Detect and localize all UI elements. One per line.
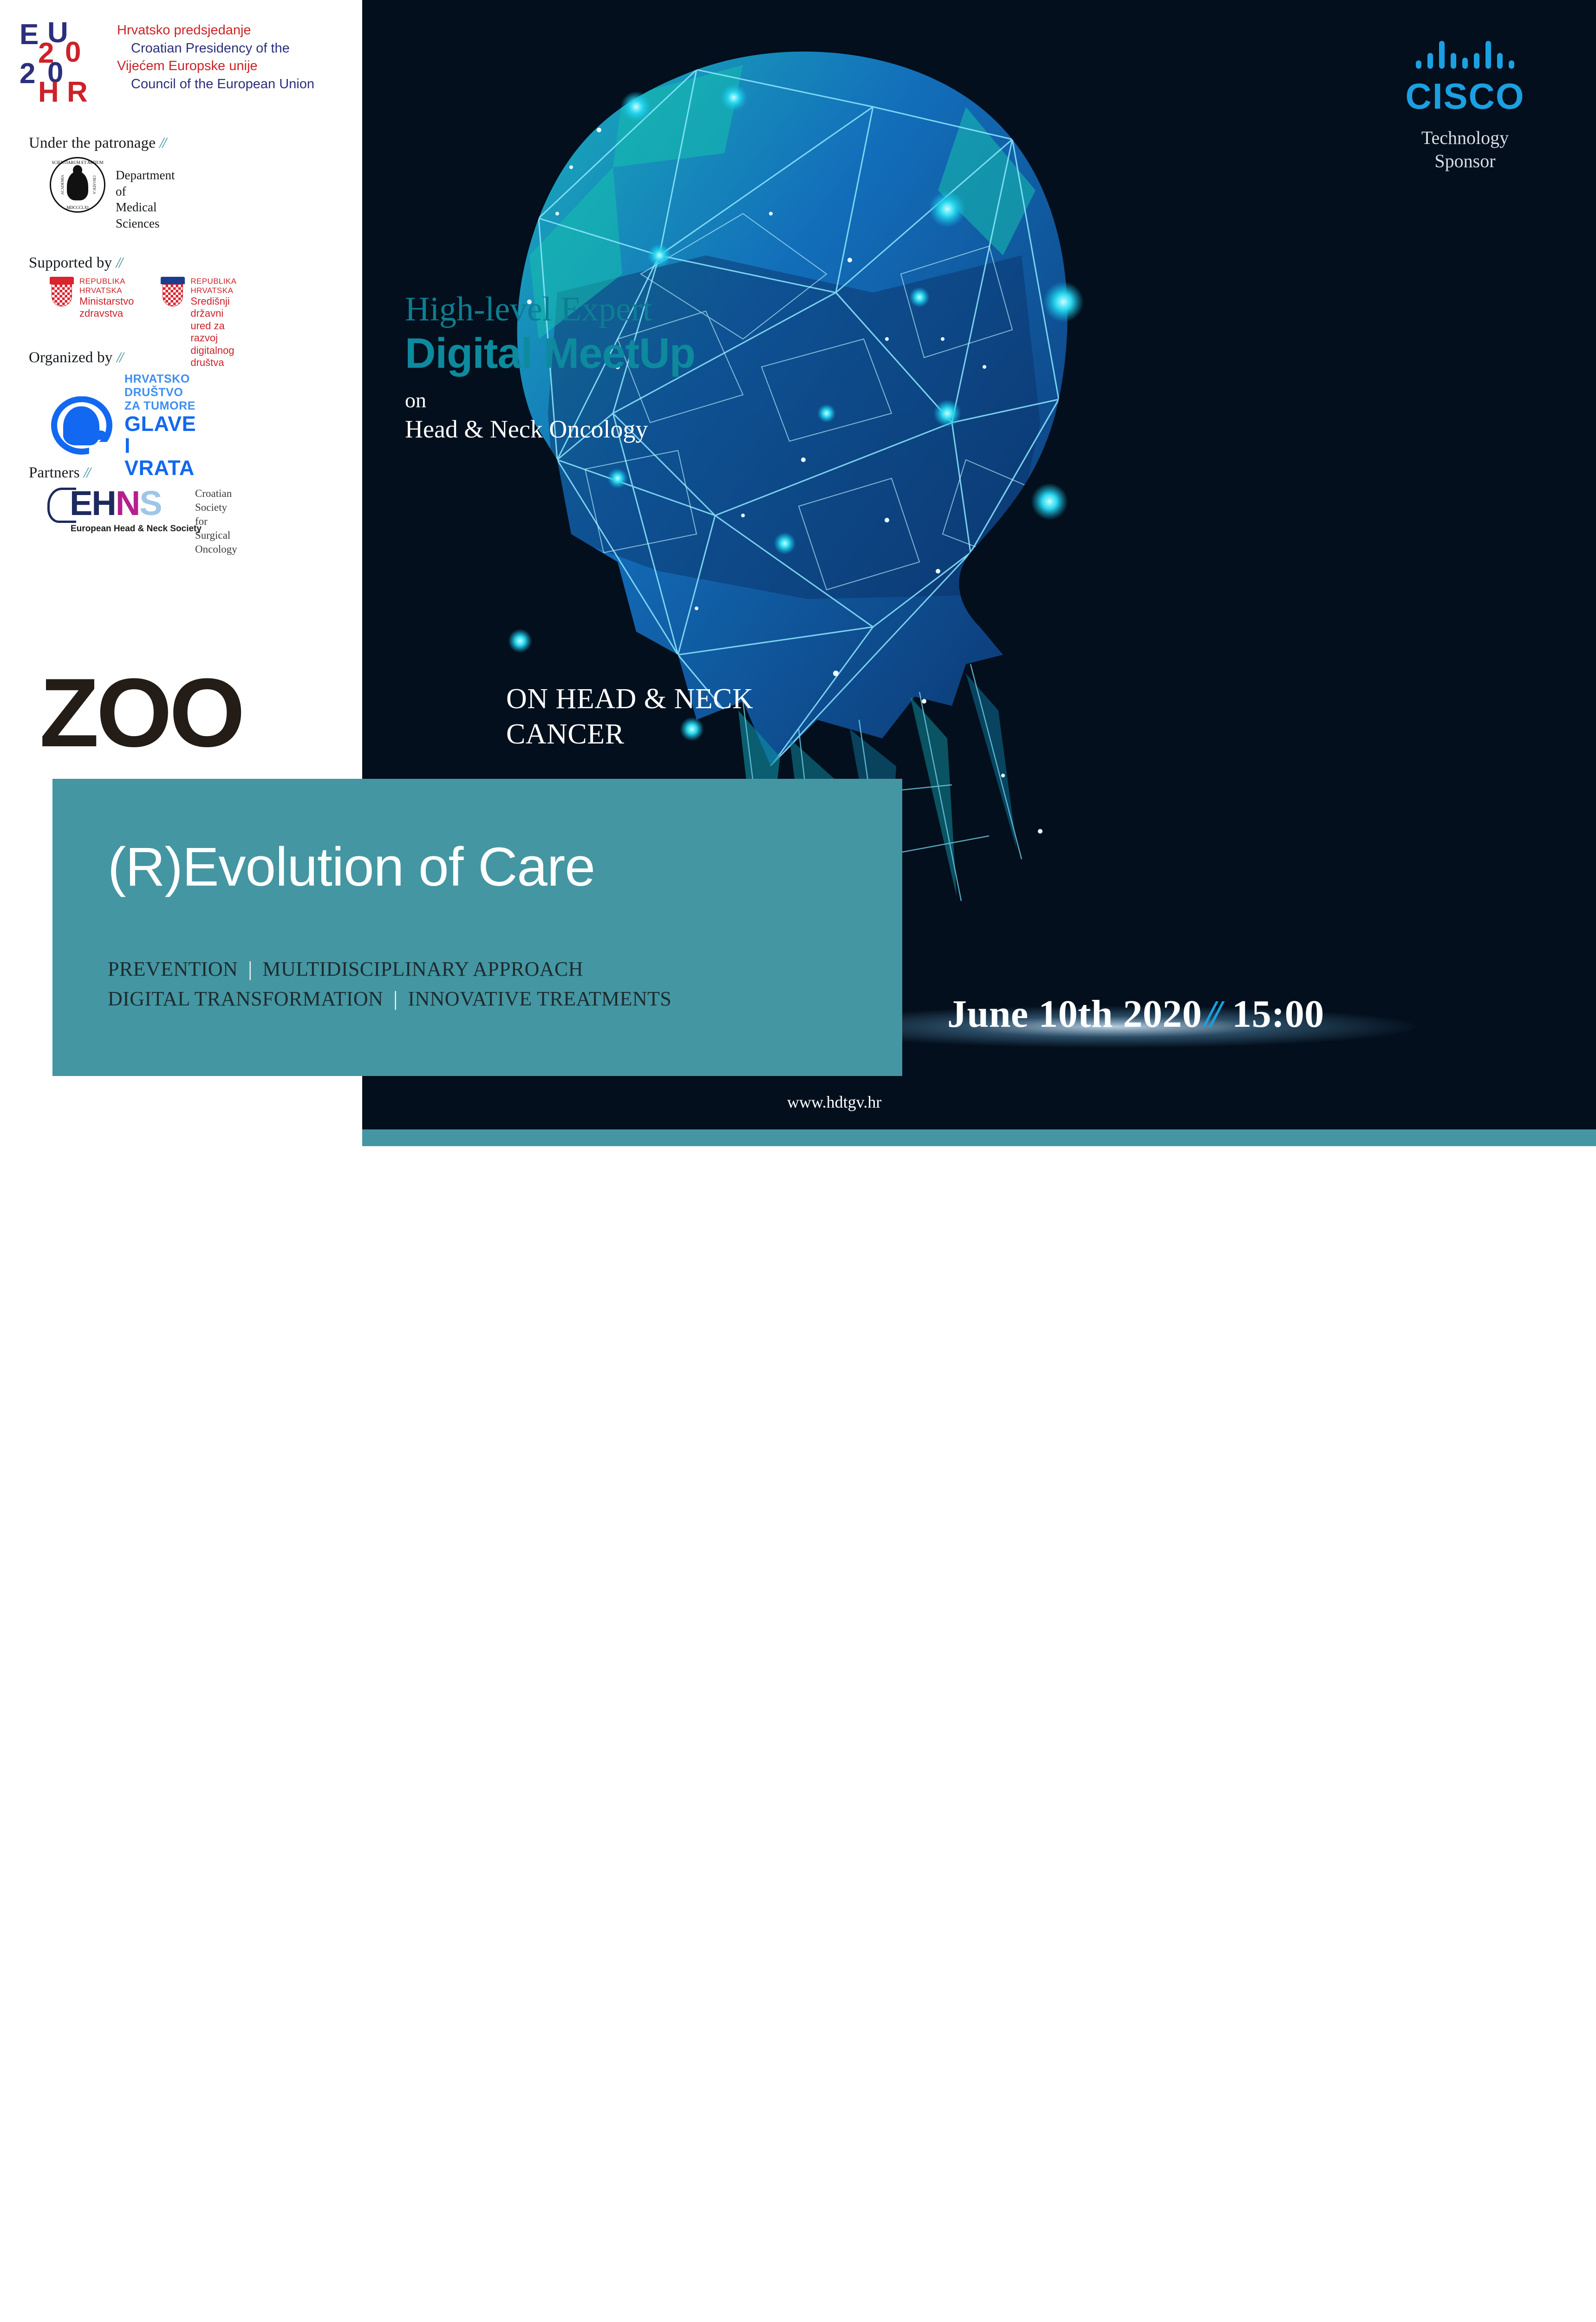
- theme-separator-2: |: [383, 987, 408, 1010]
- cisco-sponsor-role: Technology Sponsor: [1368, 126, 1563, 173]
- eu-mark-digit-2b: 2: [20, 59, 35, 88]
- organizer-text: HRVATSKO DRUŠTVO ZA TUMORE GLAVE I VRATA: [124, 372, 196, 479]
- hazu-seal-bottom-text: MDCCCLXI: [66, 205, 89, 210]
- event-website[interactable]: www.hdtgv.hr: [787, 1092, 881, 1112]
- croatia-coat-of-arms-icon-2: [161, 277, 185, 307]
- event-title-block: High-level Expert Digital MeetUp on Head…: [405, 292, 695, 444]
- ministry-line2-0: zdravstva: [79, 307, 134, 320]
- eu-presidency-text: Hrvatsko predsjedanje Croatian Presidenc…: [117, 21, 358, 93]
- eu-mark-letter-r: R: [67, 78, 88, 107]
- patronage-org-line1: Department of: [116, 167, 175, 199]
- patronage-org-line3: Sciences: [116, 215, 175, 232]
- patronage-label: Under the patronage //: [29, 135, 165, 152]
- croatia-coat-of-arms-icon: [50, 277, 74, 307]
- eu-presidency-logo: E U 2 0 2 0 H R Hrvatsko predsjedanje Cr…: [19, 19, 353, 107]
- organizer-line1: HRVATSKO DRUŠTVO ZA TUMORE: [124, 372, 196, 413]
- hazu-seal-top-text: SCIENTIARUM ET ARTIUM: [52, 160, 103, 165]
- ehns-letters: EHNS: [70, 487, 162, 520]
- event-date: June 10th 2020: [947, 992, 1202, 1036]
- eu-line-hr-2: Vijećem Europske unije: [117, 57, 358, 75]
- event-kicker: High-level Expert: [405, 292, 695, 328]
- coa-crown-icon-2: [161, 277, 185, 284]
- partners-logo-row: EHNS European Head & Neck Society Croati…: [47, 487, 237, 556]
- supported-section: Supported by // REPUBLIKA HRVATSKA Minis…: [29, 254, 122, 272]
- hdtgv-head-icon: [47, 395, 122, 456]
- csso-line4: Oncology: [195, 542, 237, 556]
- left-logo-column: E U 2 0 2 0 H R Hrvatsko predsjedanje Cr…: [0, 0, 362, 1129]
- sponsors-footer: Technical Organizer // Gold Sponsors // …: [0, 1146, 1596, 1353]
- cisco-sponsor-block: CISCO Technology Sponsor: [1368, 35, 1563, 173]
- patronage-label-text: Under the patronage: [29, 135, 156, 151]
- digital-society-office-text: REPUBLIKA HRVATSKA Središnji državni ure…: [190, 277, 236, 369]
- eu-line-en-1: Croatian Presidency of the: [117, 39, 358, 58]
- patronage-label-slashes: //: [160, 135, 165, 151]
- organized-label-text: Organized by: [29, 349, 112, 366]
- organizer-line2: GLAVE I VRATA: [124, 413, 196, 479]
- coa-shield-icon-2: [163, 284, 183, 307]
- zoom-subtitle-line2: CANCER: [506, 717, 753, 752]
- partners-section: Partners // EHNS European Head & Neck So…: [29, 464, 90, 482]
- organized-section: Organized by // HRVATSKO DRUŠTVO ZA TUMO…: [29, 349, 122, 366]
- hazu-seal-left-text: ACADEMIA: [60, 175, 65, 195]
- patronage-org-line2: Medical: [116, 199, 175, 215]
- croatian-society-surgical-oncology: Croatian Society for Surgical Oncology: [195, 487, 237, 556]
- hdtgv-profile-icon: [63, 406, 99, 445]
- event-title: Digital MeetUp: [405, 330, 695, 378]
- ministry-line1-1: Središnji državni ured za: [190, 295, 236, 332]
- digital-society-office-logo: REPUBLIKA HRVATSKA Središnji državni ure…: [161, 277, 236, 369]
- cisco-wordmark: CISCO: [1368, 78, 1563, 114]
- ehns-logo: EHNS European Head & Neck Society: [47, 487, 187, 538]
- eu-line-hr-1: Hrvatsko predsjedanje: [117, 21, 358, 39]
- ehns-subtitle: European Head & Neck Society: [71, 524, 202, 534]
- supported-label-slashes: //: [116, 254, 122, 271]
- supported-label-text: Supported by: [29, 254, 112, 271]
- zoom-subtitle: ON HEAD & NECK CANCER: [506, 682, 753, 752]
- ehns-letter-h: H: [91, 484, 115, 522]
- hazu-seal-figure-icon: [67, 171, 88, 200]
- ministry-country-0: REPUBLIKA HRVATSKA: [79, 277, 134, 295]
- teal-divider-bar: [362, 1129, 1596, 1146]
- ministry-of-health-text: REPUBLIKA HRVATSKA Ministarstvo zdravstv…: [79, 277, 134, 320]
- event-datetime: June 10th 2020//15:00: [947, 991, 1324, 1037]
- eu-mark-letter-h: H: [38, 78, 59, 107]
- datetime-separator: //: [1202, 992, 1220, 1036]
- ministry-line2-1: razvoj digitalnog društva: [190, 332, 236, 369]
- partners-label-slashes: //: [84, 464, 89, 481]
- coa-shield-icon: [52, 284, 72, 307]
- hazu-seal-icon: SCIENTIARUM ET ARTIUM ACADEMIA CROATICA …: [50, 157, 105, 213]
- ministry-line1-0: Ministarstvo: [79, 295, 134, 307]
- partners-label: Partners //: [29, 464, 90, 482]
- ministry-country-1: REPUBLIKA HRVATSKA: [190, 277, 236, 295]
- patronage-org-name: Department of Medical Sciences: [116, 157, 175, 231]
- organized-label-slashes: //: [117, 349, 122, 366]
- eu-mark-digit-0a: 0: [65, 38, 81, 67]
- event-topic: Head & Neck Oncology: [405, 416, 695, 443]
- patronage-logo-row: SCIENTIARUM ET ARTIUM ACADEMIA CROATICA …: [50, 157, 175, 231]
- patronage-section: Under the patronage // SCIENTIARUM ET AR…: [29, 135, 165, 152]
- cisco-bars-icon: [1368, 35, 1563, 69]
- theme-innovative-treatments: INNOVATIVE TREATMENTS: [408, 987, 671, 1010]
- cisco-sponsor-line2: Sponsor: [1368, 150, 1563, 173]
- hazu-seal-right-text: CROATICA: [92, 176, 96, 194]
- cisco-sponsor-line1: Technology: [1368, 126, 1563, 150]
- eu2020hr-mark-icon: E U 2 0 2 0 H R: [19, 19, 107, 107]
- csso-line1: Croatian: [195, 487, 237, 501]
- ehns-letter-s: S: [139, 484, 161, 522]
- zoom-subtitle-line1: ON HEAD & NECK: [506, 682, 753, 717]
- organizer-logo-row: HRVATSKO DRUŠTVO ZA TUMORE GLAVE I VRATA: [47, 372, 196, 479]
- ehns-letter-n: N: [116, 484, 139, 522]
- event-on-word: on: [405, 389, 695, 412]
- event-time: 15:00: [1220, 992, 1324, 1036]
- coa-crown-icon: [50, 277, 74, 284]
- ehns-letter-e: E: [70, 484, 91, 522]
- partners-label-text: Partners: [29, 464, 80, 481]
- eu-mark-letter-e: E: [20, 20, 39, 49]
- eu-line-en-2: Council of the European Union: [117, 75, 358, 93]
- supported-label: Supported by //: [29, 254, 122, 272]
- organized-label: Organized by //: [29, 349, 122, 366]
